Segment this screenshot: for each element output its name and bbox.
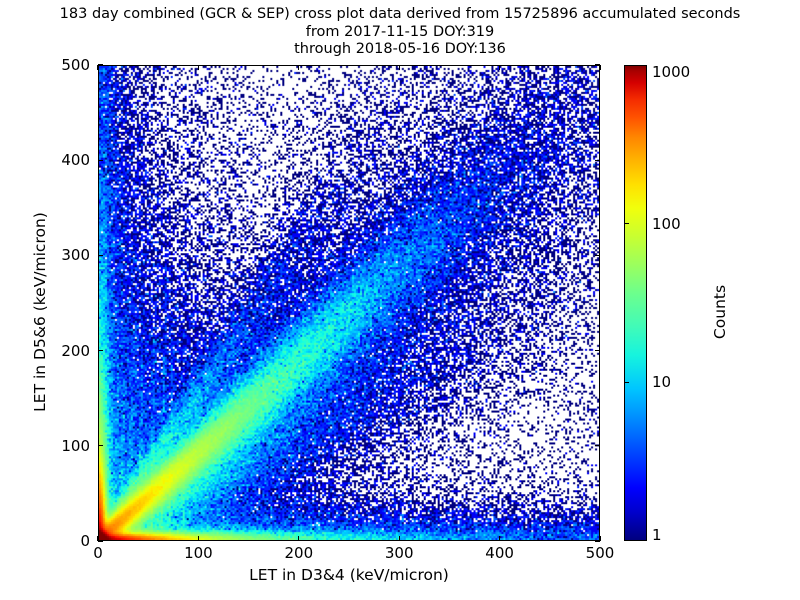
y-ticklabel-200: 200 <box>61 342 90 360</box>
x-tick-300 <box>399 65 400 70</box>
x-tick-400 <box>499 536 500 541</box>
y-tick-0 <box>98 540 103 541</box>
colorbar-tick-100 <box>624 223 629 224</box>
figure-root: 183 day combined (GCR & SEP) cross plot … <box>0 0 800 600</box>
chart-title: 183 day combined (GCR & SEP) cross plot … <box>0 6 800 59</box>
x-tick-200 <box>298 65 299 70</box>
colorbar-ticklabel-100: 100 <box>652 215 681 233</box>
x-tick-500 <box>599 65 600 70</box>
y-ticklabel-400: 400 <box>61 151 90 169</box>
y-tick-500 <box>98 64 103 65</box>
y-ticklabel-300: 300 <box>61 246 90 264</box>
x-tick-100 <box>198 536 199 541</box>
y-tick-200 <box>98 350 103 351</box>
colorbar-tick-10 <box>624 382 629 383</box>
title-line-1: 183 day combined (GCR & SEP) cross plot … <box>0 6 800 24</box>
y-axis-label: LET in D5&6 (keV/micron) <box>31 212 49 412</box>
x-tick-200 <box>298 536 299 541</box>
x-tick-300 <box>399 536 400 541</box>
x-ticklabel-0: 0 <box>93 544 103 562</box>
density-heatmap <box>99 66 599 540</box>
colorbar-label: Counts <box>711 232 729 392</box>
y-tick-100 <box>98 445 103 446</box>
x-axis-label: LET in D3&4 (keV/micron) <box>98 566 600 584</box>
colorbar-ticklabel-1000: 1000 <box>652 63 690 81</box>
colorbar-ticklabel-10: 10 <box>652 373 671 391</box>
y-ticklabel-100: 100 <box>61 437 90 455</box>
y-tick-500 <box>595 64 600 65</box>
x-tick-0 <box>97 65 98 70</box>
y-tick-100 <box>595 445 600 446</box>
x-ticklabel-200: 200 <box>284 544 313 562</box>
title-line-3: through 2018-05-16 DOY:136 <box>0 41 800 59</box>
y-tick-0 <box>595 540 600 541</box>
title-line-2: from 2017-11-15 DOY:319 <box>0 24 800 42</box>
y-tick-300 <box>98 255 103 256</box>
y-ticklabel-0: 0 <box>80 532 90 550</box>
x-ticklabel-100: 100 <box>184 544 213 562</box>
x-ticklabel-400: 400 <box>485 544 514 562</box>
x-ticklabel-300: 300 <box>385 544 414 562</box>
colorbar <box>624 65 647 541</box>
y-tick-400 <box>98 160 103 161</box>
x-tick-400 <box>499 65 500 70</box>
x-ticklabel-500: 500 <box>586 544 615 562</box>
y-tick-400 <box>595 160 600 161</box>
x-tick-100 <box>198 65 199 70</box>
colorbar-ticklabel-1: 1 <box>652 526 662 544</box>
y-ticklabel-500: 500 <box>61 56 90 74</box>
y-tick-300 <box>595 255 600 256</box>
plot-area <box>98 65 600 541</box>
y-tick-200 <box>595 350 600 351</box>
